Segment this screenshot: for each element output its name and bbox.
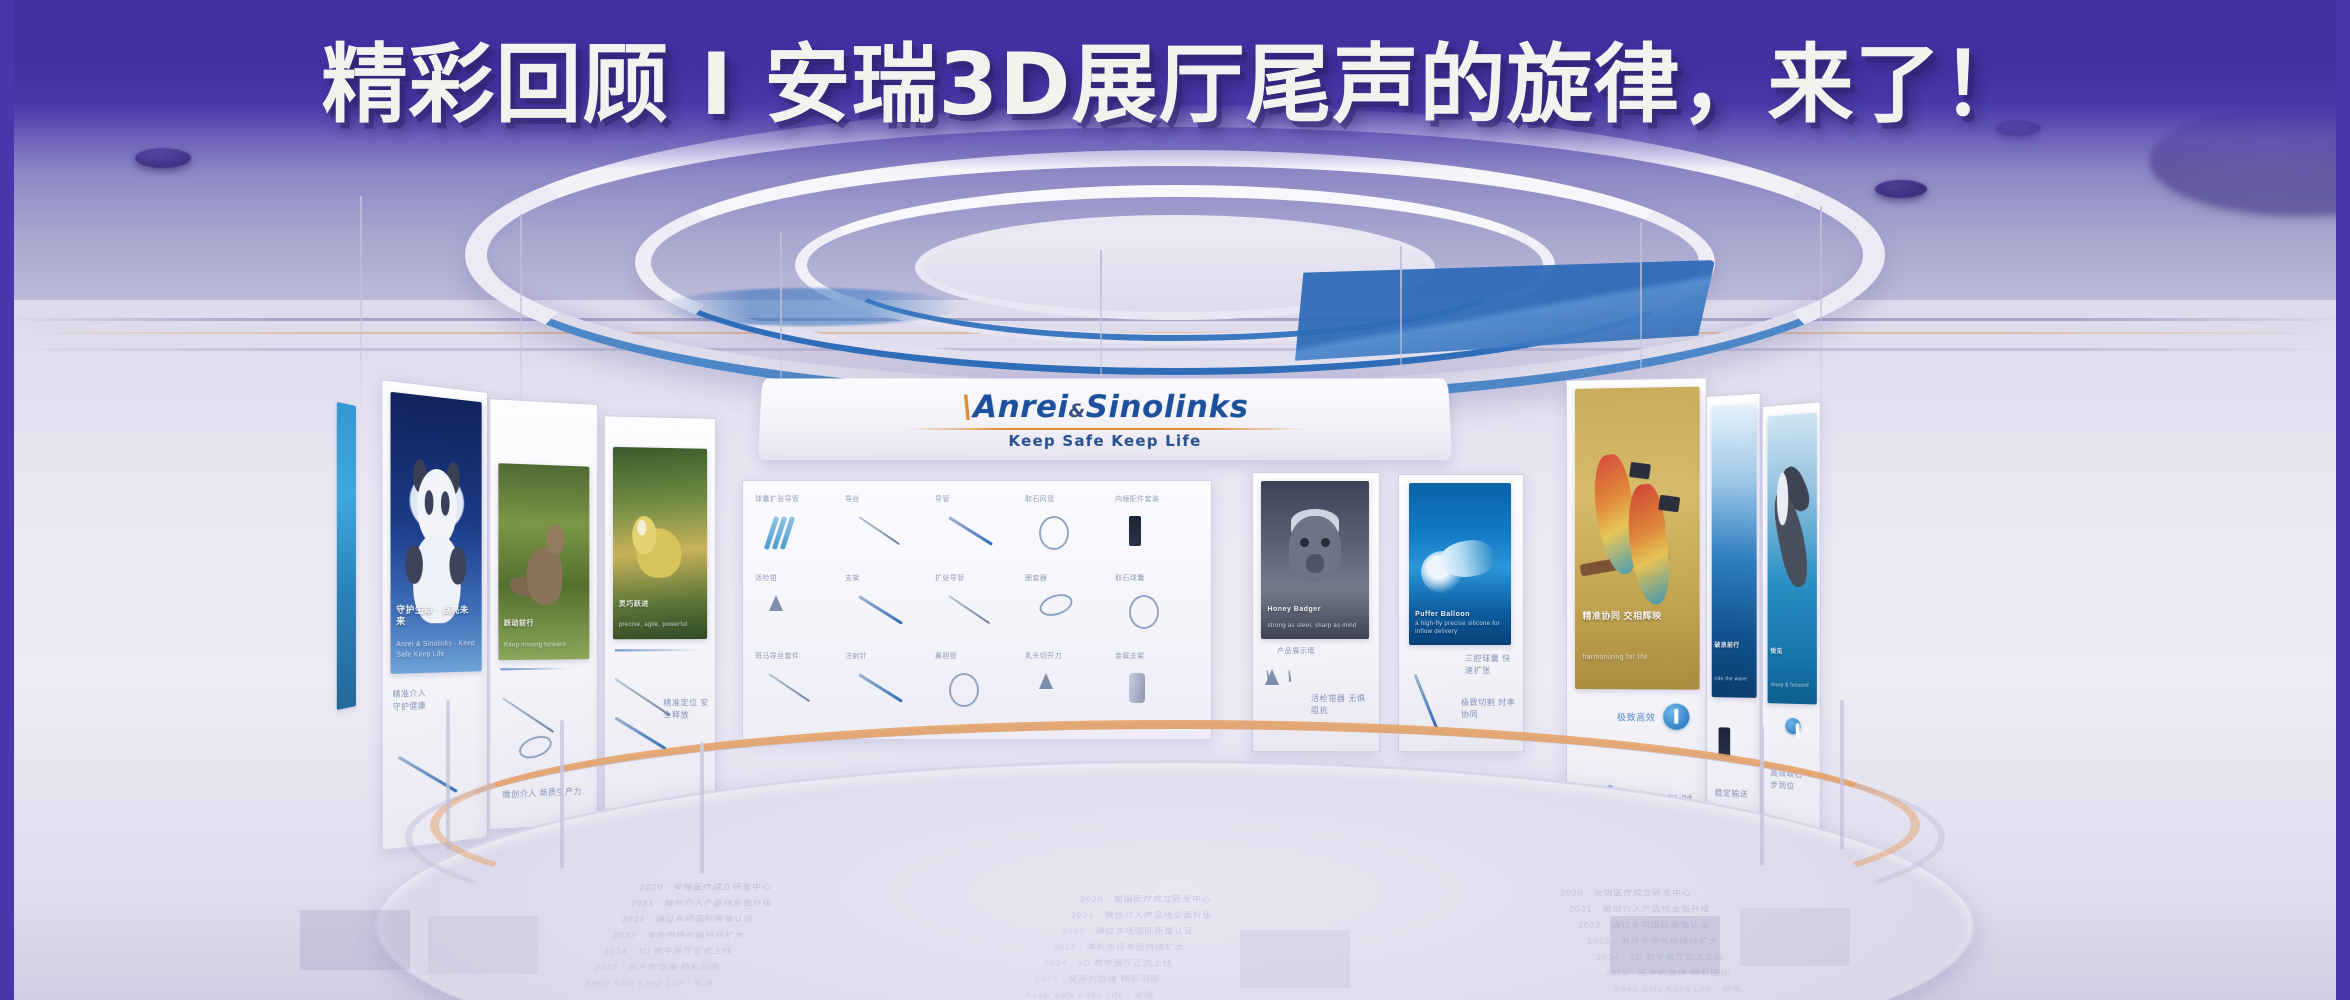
product-label: 内镜配件套装 [1115, 494, 1159, 504]
brand-logo-text: \Anrei&Sinolinks [961, 389, 1249, 425]
stage-post [1760, 726, 1764, 866]
brand-name-a: Anrei [973, 389, 1069, 425]
product-cell[interactable]: 取石网篮 [1023, 493, 1111, 570]
floor-tile [428, 916, 538, 974]
floor-timeline-row: 2023 · 海外市场布局持续扩大 [1586, 935, 1719, 946]
poster-title: 灵巧跃进 [619, 599, 702, 608]
product-label: 取石球囊 [1115, 573, 1145, 583]
panel-brand-line [615, 649, 699, 651]
product-label: 导管 [935, 494, 950, 504]
floor-timeline-row: 2022 · 通过多项国际质量认证 [621, 913, 754, 924]
floor-timeline-row: 2020 · 安瑞医疗成立研发中心 [1559, 887, 1692, 898]
display-panel-ocean[interactable]: Puffer Balloon a high-fly precise silico… [1398, 474, 1524, 752]
product-label: 活检钳 [755, 573, 777, 583]
product-snare-icon [516, 732, 554, 763]
ceiling-lamp-icon [135, 148, 191, 168]
product-cell[interactable]: 取石球囊 [1113, 572, 1201, 649]
frame-border-left [0, 0, 14, 1000]
poster-ocean: Puffer Balloon a high-fly precise silico… [1409, 483, 1511, 645]
product-cell[interactable]: 扩张导管 [933, 572, 1021, 649]
product-device-icon [948, 516, 993, 546]
floor-timeline-row: 2025 · 尾声的旋律 精彩回顾 [1604, 967, 1730, 978]
display-panel-panda[interactable]: 守护生命 · 点亮未来 Anrei & Sinolinks · Keep Saf… [382, 379, 488, 851]
logo-divider [905, 427, 1306, 429]
brand-mark-icon [1785, 718, 1800, 735]
product-device-icon [858, 674, 903, 704]
product-cell[interactable]: 圈套器 [1023, 572, 1111, 649]
bird-beak-icon [1629, 462, 1651, 480]
product-label: 乳头切开刀 [1025, 651, 1062, 661]
floor-tile [1740, 908, 1850, 966]
product-device-icon [1129, 595, 1159, 629]
product-label: 取石网篮 [1025, 494, 1055, 504]
poster-subtitle: a high-fly precise silicone for inflow d… [1415, 621, 1505, 637]
poster-subtitle: strong as steel, sharp as mind [1267, 623, 1362, 631]
floor-timeline-row: 2024 · 3D 数字展厅正式上线 [1595, 951, 1725, 962]
product-display-wall[interactable]: 球囊扩张导管导丝导管取石网篮内镜配件套装活检钳支架扩张导管圈套器取石球囊斑马导丝… [742, 480, 1212, 740]
bird-beak-icon [1658, 495, 1680, 513]
floor-timeline-row: 2020 · 安瑞医疗成立研发中心 [639, 881, 772, 892]
floor-timeline-row: 2020 · 安瑞医疗成立研发中心 [1080, 893, 1212, 904]
floor-timeline-row: 2022 · 通过多项国际质量认证 [1577, 919, 1710, 930]
poster-title: 精准协同 交相辉映 [1582, 611, 1692, 623]
poster-subtitle: Keep moving forward [504, 642, 584, 651]
product-cell[interactable]: 导丝 [843, 493, 931, 570]
product-cell[interactable]: 内镜配件套装 [1113, 493, 1201, 570]
product-cell[interactable]: 乳头切开刀 [1023, 650, 1111, 727]
floor-timeline-row: 2022 · 通过多项国际质量认证 [1062, 925, 1194, 936]
product-cell[interactable]: 支架 [843, 572, 931, 649]
product-device-icon [858, 516, 900, 545]
display-panel-badger[interactable]: Honey Badger strong as steel, sharp as m… [1252, 472, 1380, 752]
poster-title: 破浪前行 [1714, 643, 1754, 651]
panda-arm-icon [406, 545, 423, 584]
brand-logo-board: \Anrei&Sinolinks Keep Safe Keep Life [758, 378, 1452, 460]
panel-caption: 极致切割 时率协同 [1461, 697, 1517, 721]
product-label: 金属支架 [1115, 651, 1145, 661]
brand-mark-label: 极致高效 [1617, 711, 1656, 725]
product-device-icon [1288, 670, 1291, 682]
product-cell[interactable]: 鼻胆管 [933, 650, 1021, 727]
poster-frog: 灵巧跃进 precise, agile, powerful [613, 447, 707, 639]
stage-post [446, 700, 450, 850]
product-label: 支架 [845, 573, 860, 583]
product-device-icon [1129, 673, 1145, 703]
product-device-icon [614, 678, 670, 716]
stage-post [1840, 700, 1844, 850]
poster-subtitle: sharp & focused [1770, 682, 1813, 689]
stage-post [560, 720, 564, 868]
poster-subtitle: harmonizing for life [1582, 653, 1692, 662]
product-device-icon [614, 716, 667, 750]
product-device-icon [1037, 590, 1076, 620]
ceiling-blue-swoosh-secondary [660, 288, 960, 326]
poster-subtitle: Anrei & Sinolinks · Keep Safe Keep Life [396, 640, 476, 660]
product-device-icon [948, 595, 990, 624]
product-device-icon [769, 595, 783, 611]
panel-caption: 产品展示墙 [1277, 647, 1315, 658]
badger-eye-icon [1300, 538, 1309, 547]
exhibition-hall-render: \Anrei&Sinolinks Keep Safe Keep Life 守护生… [0, 0, 2350, 1000]
product-label: 鼻胆管 [935, 651, 957, 661]
product-cell[interactable]: 注射针 [843, 650, 931, 727]
floor-timeline-row: 2021 · 微创介入产品线全面升级 [630, 897, 773, 908]
panel-caption: 三腔球囊 快速扩张 [1465, 653, 1517, 677]
badger-snout-icon [1306, 554, 1323, 573]
kangaroo-body-icon [526, 546, 562, 605]
floor-timeline-row: 2024 · 3D 数字展厅正式上线 [1044, 957, 1172, 968]
floor-timeline-row: 2023 · 海外市场布局持续扩大 [1053, 941, 1185, 952]
hanging-rod [520, 214, 522, 414]
poster-wave: 破浪前行 ride the wave [1712, 404, 1757, 698]
panda-arm-icon [450, 546, 466, 585]
eagle-head-icon [1777, 473, 1788, 525]
poster-subtitle: ride the wave [1714, 676, 1754, 683]
product-device-icon [949, 673, 979, 707]
floor-timeline-row: 2021 · 微创介入产品线全面升级 [1071, 909, 1212, 920]
panel-caption: 活检钳器 无惧阻抗 [1311, 693, 1371, 717]
product-device-icon [1414, 674, 1439, 729]
floor-timeline-row: Keep Safe Keep Life · 安瑞 [1613, 983, 1742, 994]
stage-post [700, 742, 704, 874]
poster-panda: 守护生命 · 点亮未来 Anrei & Sinolinks · Keep Saf… [391, 392, 482, 674]
product-cell[interactable]: 金属支架 [1113, 650, 1201, 727]
floor-tile [1240, 930, 1350, 988]
product-device-icon [502, 697, 554, 733]
poster-kangaroo: 跃动前行 Keep moving forward [498, 463, 589, 660]
poster-badger: Honey Badger strong as steel, sharp as m… [1261, 481, 1369, 639]
product-label: 扩张导管 [935, 573, 965, 583]
product-device-icon [1039, 516, 1069, 550]
brand-logo-swoosh: \ [961, 389, 974, 425]
floor-timeline-row: Keep Safe Keep Life · 安瑞 [585, 977, 714, 988]
product-label: 导丝 [845, 494, 860, 504]
poster-title: 守护生命 · 点亮未来 [396, 604, 476, 629]
floor-timeline-row: 2023 · 海外市场布局持续扩大 [612, 929, 745, 940]
poster-title: Puffer Balloon [1415, 610, 1505, 619]
product-label: 球囊扩张导管 [755, 494, 799, 504]
poster-subtitle: precise, agile, powerful [619, 622, 702, 630]
product-device-icon [1129, 516, 1141, 546]
poster-title: 跃动前行 [504, 619, 584, 628]
product-device-icon [858, 595, 903, 625]
poster-bird: 精准协同 交相辉映 harmonizing for life [1575, 387, 1700, 690]
exhibition-banner: \Anrei&Sinolinks Keep Safe Keep Life 守护生… [0, 0, 2350, 1000]
frog-eye-icon [638, 520, 647, 535]
product-device-icon [1039, 673, 1053, 689]
product-device-icon [769, 516, 790, 550]
brand-name-b: Sinolinks [1086, 389, 1249, 425]
ceiling-lamp-icon [1995, 120, 2041, 136]
floor-timeline-row: 2025 · 尾声的旋律 精彩回顾 [1035, 973, 1160, 984]
brand-ampersand: & [1069, 400, 1086, 422]
product-cell[interactable]: 球囊扩张导管 [753, 493, 841, 570]
product-label: 圈套器 [1025, 573, 1047, 583]
product-label: 斑马导丝套件 [755, 651, 799, 661]
product-grid: 球囊扩张导管导丝导管取石网篮内镜配件套装活检钳支架扩张导管圈套器取石球囊斑马导丝… [743, 481, 1211, 739]
product-device-icon [768, 673, 810, 702]
hanging-rod [1820, 206, 1822, 406]
panda-eye-icon [424, 490, 433, 515]
poster-title: Honey Badger [1267, 605, 1362, 614]
floor-timeline-row: 2024 · 3D 数字展厅正式上线 [603, 945, 733, 956]
floor-timeline-row: 2021 · 微创介入产品线全面升级 [1568, 903, 1711, 914]
poster-title: 锐见 [1770, 650, 1813, 658]
product-cell[interactable]: 活检钳 [753, 572, 841, 649]
ceiling-lamp-icon [1875, 180, 1927, 198]
poster-ice-accent [337, 402, 356, 710]
floor-tile [300, 910, 410, 970]
brand-tagline: Keep Safe Keep Life [1008, 431, 1201, 449]
product-label: 注射针 [845, 651, 867, 661]
brand-mark-icon [1663, 704, 1689, 730]
hanging-rod [360, 196, 362, 406]
kangaroo-head-icon [546, 523, 564, 554]
poster-eagle: 锐见 sharp & focused [1768, 413, 1817, 705]
frame-border-right [2336, 0, 2350, 1000]
panel-caption: 精准定位 安全释放 [663, 697, 711, 722]
product-cell[interactable]: 斑马导丝套件 [753, 650, 841, 727]
floor-timeline-row: 2025 · 尾声的旋律 精彩回顾 [594, 961, 720, 972]
floor-timeline-row: Keep Safe Keep Life · 安瑞 [1026, 989, 1154, 1000]
panel-brand-line [500, 667, 570, 670]
product-cell[interactable]: 导管 [933, 493, 1021, 570]
